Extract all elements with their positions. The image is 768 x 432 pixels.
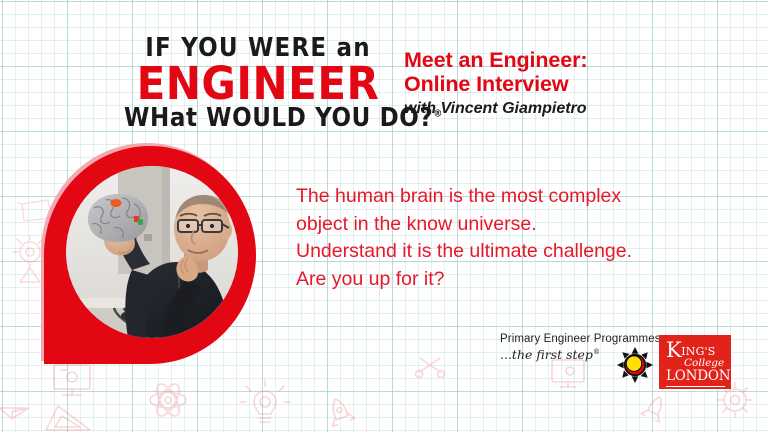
primary-engineer-logo: Primary Engineer Programmes ...the first… — [500, 333, 650, 362]
kcl-london-word: LONDON — [666, 370, 725, 384]
kcl-rule-1 — [666, 386, 725, 387]
kings-college-london-logo: KING'S College LONDON — [659, 335, 731, 389]
quote-block: The human brain is the most complex obje… — [296, 183, 736, 293]
registered-mark: ® — [593, 348, 600, 356]
slide-canvas: IF YOU WERE an ENGINEER WHat WOULD YOU D… — [0, 0, 768, 432]
headline-subtitle: with Vincent Giampietro — [404, 99, 734, 119]
kcl-college-word: College — [684, 358, 725, 369]
if-you-were-an-engineer-logo: IF YOU WERE an ENGINEER WHat WOULD YOU D… — [124, 36, 392, 129]
quote-line-4: Are you up for it? — [296, 266, 736, 294]
primary-engineer-tagline: ...the first step — [500, 347, 593, 362]
logo-line-3: WHat WOULD YOU DO?® — [124, 106, 392, 132]
headline-block: Meet an Engineer: Online Interview with … — [404, 48, 734, 119]
speaker-photo-pin — [44, 146, 256, 364]
sun-icon — [617, 347, 653, 383]
kcl-rule-2 — [666, 389, 725, 390]
quote-line-3: Understand it is the ultimate challenge. — [296, 238, 736, 266]
quote-line-2: object in the know universe. — [296, 211, 736, 239]
logo-line-2: ENGINEER — [124, 61, 392, 106]
primary-engineer-line-1: Primary Engineer Programmes — [500, 333, 650, 345]
logo-line-3-text: WHat WOULD YOU DO? — [124, 104, 433, 133]
headline-line-1: Meet an Engineer: — [404, 48, 734, 72]
headline-line-2: Online Interview — [404, 72, 734, 96]
kcl-k-letter: K — [666, 338, 681, 362]
quote-line-1: The human brain is the most complex — [296, 183, 736, 211]
speaker-photo — [66, 166, 238, 338]
